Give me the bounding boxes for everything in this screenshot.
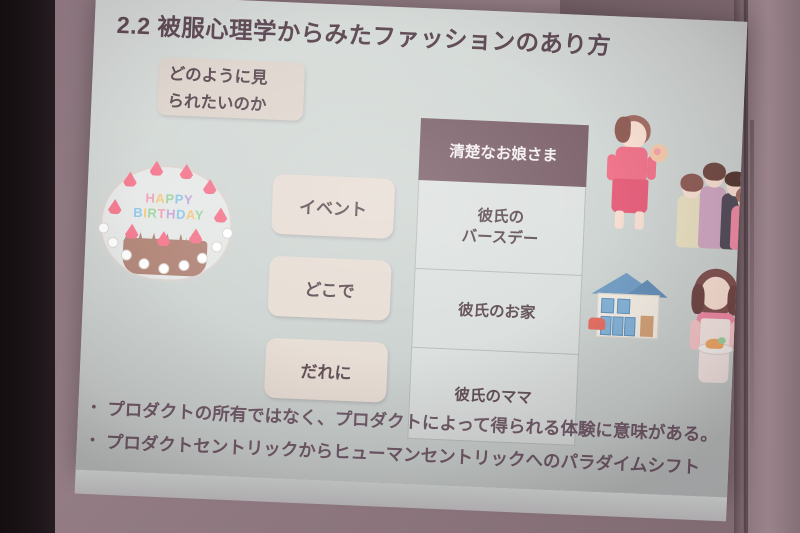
happy-birthday-cake-icon: HAPPY BIRTHDAY (92, 154, 243, 290)
table-row: 彼氏の バースデー (415, 180, 587, 276)
wall-right-panel (748, 0, 800, 533)
table-header: 清楚なお娘さま (418, 118, 588, 187)
presentation-slide: 2.2 被服心理学からみたファッションのあり方 どのように見 られたいのか (76, 0, 748, 497)
pill-event[interactable]: イベント (271, 174, 395, 239)
room-photo-scene: 2.2 被服心理学からみたファッションのあり方 どのように見 られたいのか (0, 0, 800, 533)
cake-lace-dots (96, 216, 232, 280)
projection-screen: 2.2 被服心理学からみたファッションのあり方 どのように見 られたいのか (75, 0, 754, 522)
table-row: 彼氏のお家 (411, 269, 582, 355)
bullet-marker: ・ (86, 396, 102, 421)
woman-with-apron-icon (679, 267, 747, 396)
how-seen-box: どのように見 られたいのか (157, 57, 305, 121)
house-icon (588, 265, 673, 344)
how-seen-line2: られたいのか (167, 88, 304, 121)
woman-with-bouquet-icon (594, 114, 677, 235)
answer-table: 清楚なお娘さま 彼氏の バースデー 彼氏のお家 彼氏のママ (407, 118, 589, 446)
bullet-marker: ・ (84, 429, 100, 454)
pill-where[interactable]: どこで (267, 256, 391, 321)
pill-whom[interactable]: だれに (264, 338, 388, 403)
left-dark-wall (0, 0, 62, 533)
group-of-people-icon (676, 147, 748, 255)
red-car-icon (588, 317, 605, 330)
house-door (640, 316, 654, 338)
table-cell-line2: バースデー (461, 226, 539, 250)
vertical-pole (750, 120, 754, 450)
